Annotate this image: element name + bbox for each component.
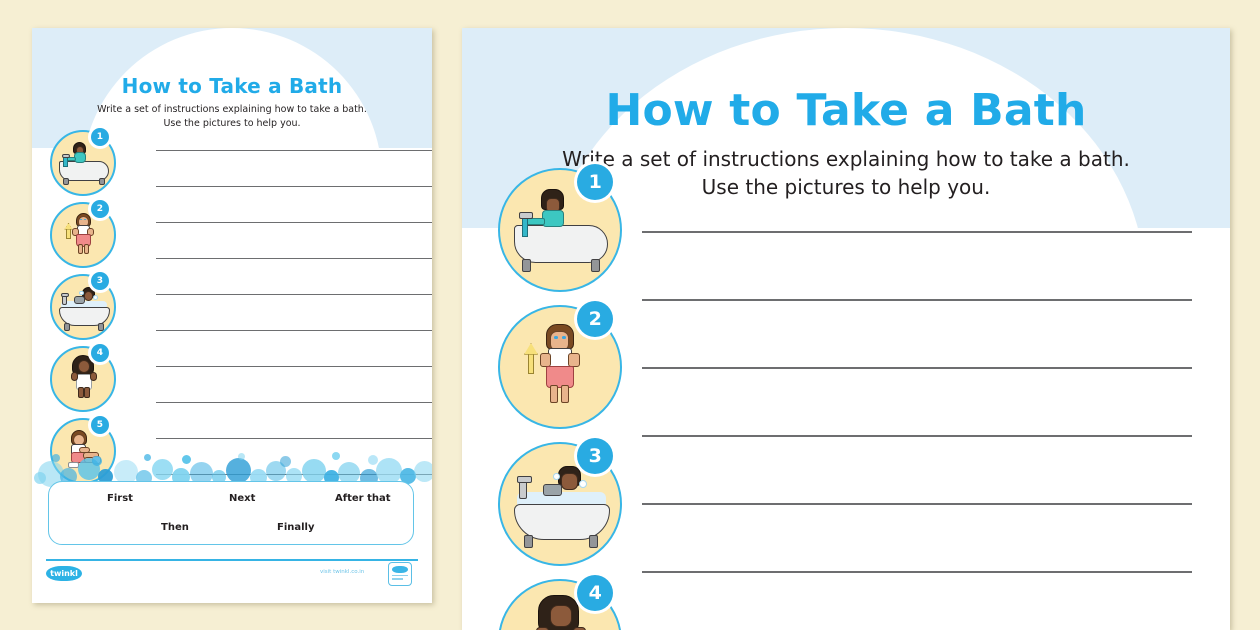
word-bank-word: Finally — [277, 522, 315, 533]
illustration-part — [591, 259, 600, 272]
illustration-part — [61, 293, 70, 297]
illustration-part — [536, 627, 549, 630]
step-number-badge: 3 — [91, 272, 109, 290]
step-3-illustration-circle: 3 — [50, 274, 112, 336]
word-bank-word: First — [107, 493, 133, 504]
writing-line[interactable] — [156, 330, 432, 331]
step-4-illustration-circle: 4 — [50, 346, 112, 408]
decorative-bubble — [34, 472, 46, 484]
decorative-bubble — [280, 456, 291, 467]
step-3-illustration-circle: 3 — [498, 442, 618, 562]
illustration-part — [71, 372, 79, 381]
step-number-badge: 1 — [91, 128, 109, 146]
illustration-part — [84, 387, 90, 398]
illustration-part — [561, 385, 569, 403]
step-number-badge: 4 — [91, 344, 109, 362]
writing-line[interactable] — [156, 402, 432, 403]
illustration-part — [517, 476, 532, 483]
illustration-part — [62, 154, 70, 158]
illustration-part — [561, 473, 577, 491]
decorative-bubble — [368, 455, 378, 465]
decorative-bubble — [52, 454, 60, 462]
badge-line — [392, 575, 408, 577]
illustration-part — [562, 336, 566, 339]
decorative-bubble — [182, 455, 191, 464]
illustration-part — [99, 178, 105, 186]
illustration-part — [64, 323, 70, 331]
step-number-badge: 4 — [577, 575, 613, 611]
illustration-part — [78, 244, 83, 254]
decorative-bubble — [226, 458, 251, 483]
illustration-part — [554, 336, 558, 339]
writing-line[interactable] — [642, 299, 1192, 301]
writing-line[interactable] — [642, 571, 1192, 573]
worksheet-page-thumbnail[interactable]: How to Take a Bath Write a set of instru… — [32, 28, 432, 603]
writing-line[interactable] — [156, 186, 432, 187]
word-bank-word: Then — [161, 522, 189, 533]
illustration-part — [589, 535, 598, 548]
step-4-illustration-circle: 4 — [498, 579, 618, 630]
illustration-part — [522, 259, 531, 272]
step-number-badge: 3 — [577, 438, 613, 474]
writing-line[interactable] — [156, 438, 432, 439]
illustration-part — [550, 605, 571, 627]
step-2-illustration-circle: 2 — [498, 305, 618, 425]
page-title: How to Take a Bath — [32, 74, 432, 98]
twinkl-logo[interactable]: twinkl — [46, 566, 82, 581]
step-number-badge: 2 — [91, 200, 109, 218]
writing-line[interactable] — [156, 222, 432, 223]
illustration-part — [540, 353, 552, 367]
illustration-part — [78, 387, 84, 398]
decorative-bubble — [238, 453, 245, 460]
illustration-part — [542, 210, 564, 228]
illustration-part — [84, 291, 93, 301]
badge-line — [392, 578, 403, 580]
writing-line[interactable] — [642, 435, 1192, 437]
writing-line[interactable] — [642, 503, 1192, 505]
illustration-part — [550, 385, 558, 403]
writing-line[interactable] — [156, 150, 432, 151]
illustration-part — [63, 178, 69, 186]
page-title: How to Take a Bath — [462, 85, 1230, 136]
illustration-part — [579, 480, 587, 488]
illustration-part — [543, 484, 562, 497]
badge-cloud-shape — [392, 566, 408, 573]
writing-line[interactable] — [642, 367, 1192, 369]
writing-line[interactable] — [642, 231, 1192, 233]
decorative-bubble — [144, 454, 151, 461]
page-subtitle-line-1: Write a set of instructions explaining h… — [32, 104, 432, 117]
step-number-badge: 1 — [577, 164, 613, 200]
visit-url-text[interactable]: visit twinkl.co.in — [320, 569, 364, 575]
illustration-part — [90, 372, 98, 381]
decorative-bubble — [414, 461, 432, 482]
decorative-bubble — [302, 459, 326, 483]
illustration-part — [79, 447, 90, 453]
twinkl-badge-icon — [388, 562, 412, 586]
illustration-part — [524, 343, 538, 355]
illustration-part — [79, 291, 83, 295]
footer-divider — [46, 559, 418, 561]
decorative-bubble — [332, 452, 340, 460]
illustration-part — [519, 212, 533, 219]
step-number-badge: 2 — [577, 301, 613, 337]
illustration-part — [84, 244, 89, 254]
decorative-bubble — [92, 456, 102, 466]
illustration-part — [568, 353, 580, 367]
illustration-part — [74, 296, 85, 304]
word-bank: First Next After that Then Finally — [48, 481, 414, 545]
writing-line[interactable] — [156, 294, 432, 295]
illustration-part — [78, 360, 90, 373]
illustration-part — [553, 473, 560, 480]
writing-line[interactable] — [156, 366, 432, 367]
illustration-part — [98, 323, 104, 331]
step-2-illustration-circle: 2 — [50, 202, 112, 264]
illustration-part — [524, 535, 533, 548]
illustration-part — [93, 295, 98, 300]
writing-line[interactable] — [156, 258, 432, 259]
page-subtitle-line-2: Use the pictures to help you. — [32, 118, 432, 131]
illustration-part — [526, 218, 545, 225]
illustration-part — [573, 627, 586, 630]
decorative-bubble — [152, 459, 173, 480]
step-1-illustration-circle: 1 — [50, 130, 112, 192]
step-number-badge: 5 — [91, 416, 109, 434]
worksheet-preview-stage: How to Take a Bath Write a set of instru… — [0, 0, 1260, 630]
word-bank-word: After that — [335, 493, 391, 504]
worksheet-page-zoomed[interactable]: How to Take a Bath Write a set of instru… — [462, 28, 1230, 630]
word-bank-word: Next — [229, 493, 255, 504]
step-1-illustration-circle: 1 — [498, 168, 618, 288]
